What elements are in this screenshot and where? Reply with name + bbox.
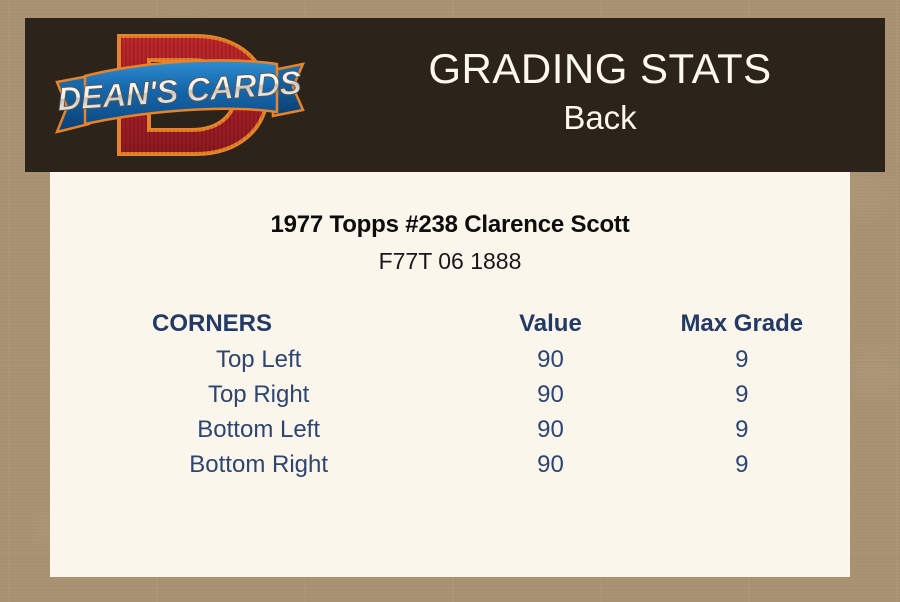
grading-stats-table: CORNERS Value Max Grade Top Left 90 9 To…	[50, 306, 850, 482]
row-label-bottom-left: Bottom Left	[50, 412, 467, 447]
row-value-top-left: 90	[467, 342, 633, 377]
header-bar: DEAN'S CARDS GRADING STATS Back	[25, 18, 885, 172]
header-title-block: GRADING STATS Back	[325, 44, 875, 139]
column-header-value: Value	[467, 306, 633, 342]
stats-table-header: CORNERS Value Max Grade	[50, 306, 850, 342]
row-max-grade-bottom-right: 9	[634, 447, 850, 482]
stats-table-body: Top Left 90 9 Top Right 90 9 Bottom Left…	[50, 342, 850, 482]
table-row: Top Right 90 9	[50, 377, 850, 412]
row-value-bottom-right: 90	[467, 447, 633, 482]
table-row: Bottom Right 90 9	[50, 447, 850, 482]
row-max-grade-top-left: 9	[634, 342, 850, 377]
table-header-row: CORNERS Value Max Grade	[50, 306, 850, 342]
row-label-top-right: Top Right	[50, 377, 467, 412]
column-header-corners: CORNERS	[50, 306, 467, 342]
page-subtitle: Back	[325, 97, 875, 139]
card-title: 1977 Topps #238 Clarence Scott	[50, 211, 850, 239]
row-label-bottom-right: Bottom Right	[50, 447, 467, 482]
deans-cards-logo[interactable]: DEAN'S CARDS	[45, 20, 315, 170]
card-subtitle: F77T 06 1888	[50, 248, 850, 275]
column-header-max-grade: Max Grade	[634, 306, 850, 342]
content-panel: 1977 Topps #238 Clarence Scott F77T 06 1…	[50, 172, 850, 577]
row-max-grade-bottom-left: 9	[634, 412, 850, 447]
row-label-top-left: Top Left	[50, 342, 467, 377]
row-value-bottom-left: 90	[467, 412, 633, 447]
row-max-grade-top-right: 9	[634, 377, 850, 412]
table-row: Top Left 90 9	[50, 342, 850, 377]
grading-stats-page: DEAN'S CARDS GRADING STATS Back 1977 Top…	[0, 0, 900, 602]
page-title: GRADING STATS	[325, 44, 875, 94]
row-value-top-right: 90	[467, 377, 633, 412]
table-row: Bottom Left 90 9	[50, 412, 850, 447]
logo-ribbon-banner: DEAN'S CARDS	[56, 60, 303, 132]
